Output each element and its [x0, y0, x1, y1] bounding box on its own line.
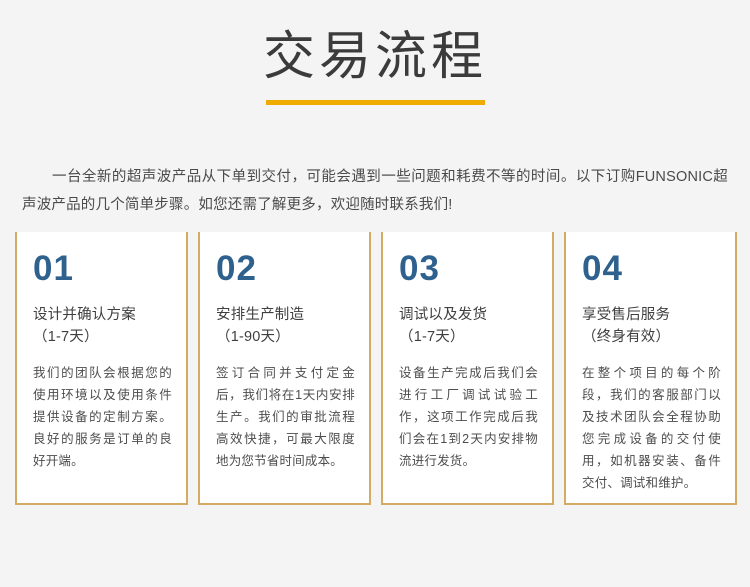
step-subtitle: 安排生产制造（1-90天） [216, 304, 355, 348]
step-body: 在整个项目的每个阶段，我们的客服部门以及技术团队会全程协助您完成设备的交付使用，… [582, 362, 721, 494]
step-body: 设备生产完成后我们会进行工厂调试试验工作，这项工作完成后我们会在1到2天内安排物… [399, 362, 538, 472]
process-steps-list: 01 设计并确认方案（1-7天） 我们的团队会根据您的使用环境以及使用条件提供设… [15, 232, 737, 505]
process-step-card-02: 02 安排生产制造（1-90天） 签订合同并支付定金后，我们将在1天内安排生产。… [198, 232, 371, 505]
step-number: 03 [399, 248, 538, 290]
trade-process-page: 交易流程 一台全新的超声波产品从下单到交付，可能会遇到一些问题和耗费不等的时间。… [0, 0, 750, 587]
step-subtitle: 调试以及发货（1-7天） [399, 304, 538, 348]
page-header: 交易流程 [0, 0, 750, 105]
step-number: 02 [216, 248, 355, 290]
step-subtitle: 设计并确认方案（1-7天） [33, 304, 172, 348]
process-step-card-04: 04 享受售后服务（终身有效） 在整个项目的每个阶段，我们的客服部门以及技术团队… [564, 232, 737, 505]
step-body: 我们的团队会根据您的使用环境以及使用条件提供设备的定制方案。良好的服务是订单的良… [33, 362, 172, 472]
step-subtitle: 享受售后服务（终身有效） [582, 304, 721, 348]
process-step-card-03: 03 调试以及发货（1-7天） 设备生产完成后我们会进行工厂调试试验工作，这项工… [381, 232, 554, 505]
title-underline-rule [266, 100, 485, 105]
process-step-card-01: 01 设计并确认方案（1-7天） 我们的团队会根据您的使用环境以及使用条件提供设… [15, 232, 188, 505]
page-title: 交易流程 [0, 0, 750, 88]
step-number: 04 [582, 248, 721, 290]
step-body: 签订合同并支付定金后，我们将在1天内安排生产。我们的审批流程高效快捷，可最大限度… [216, 362, 355, 472]
intro-paragraph: 一台全新的超声波产品从下单到交付，可能会遇到一些问题和耗费不等的时间。以下订购F… [22, 163, 728, 219]
step-number: 01 [33, 248, 172, 290]
